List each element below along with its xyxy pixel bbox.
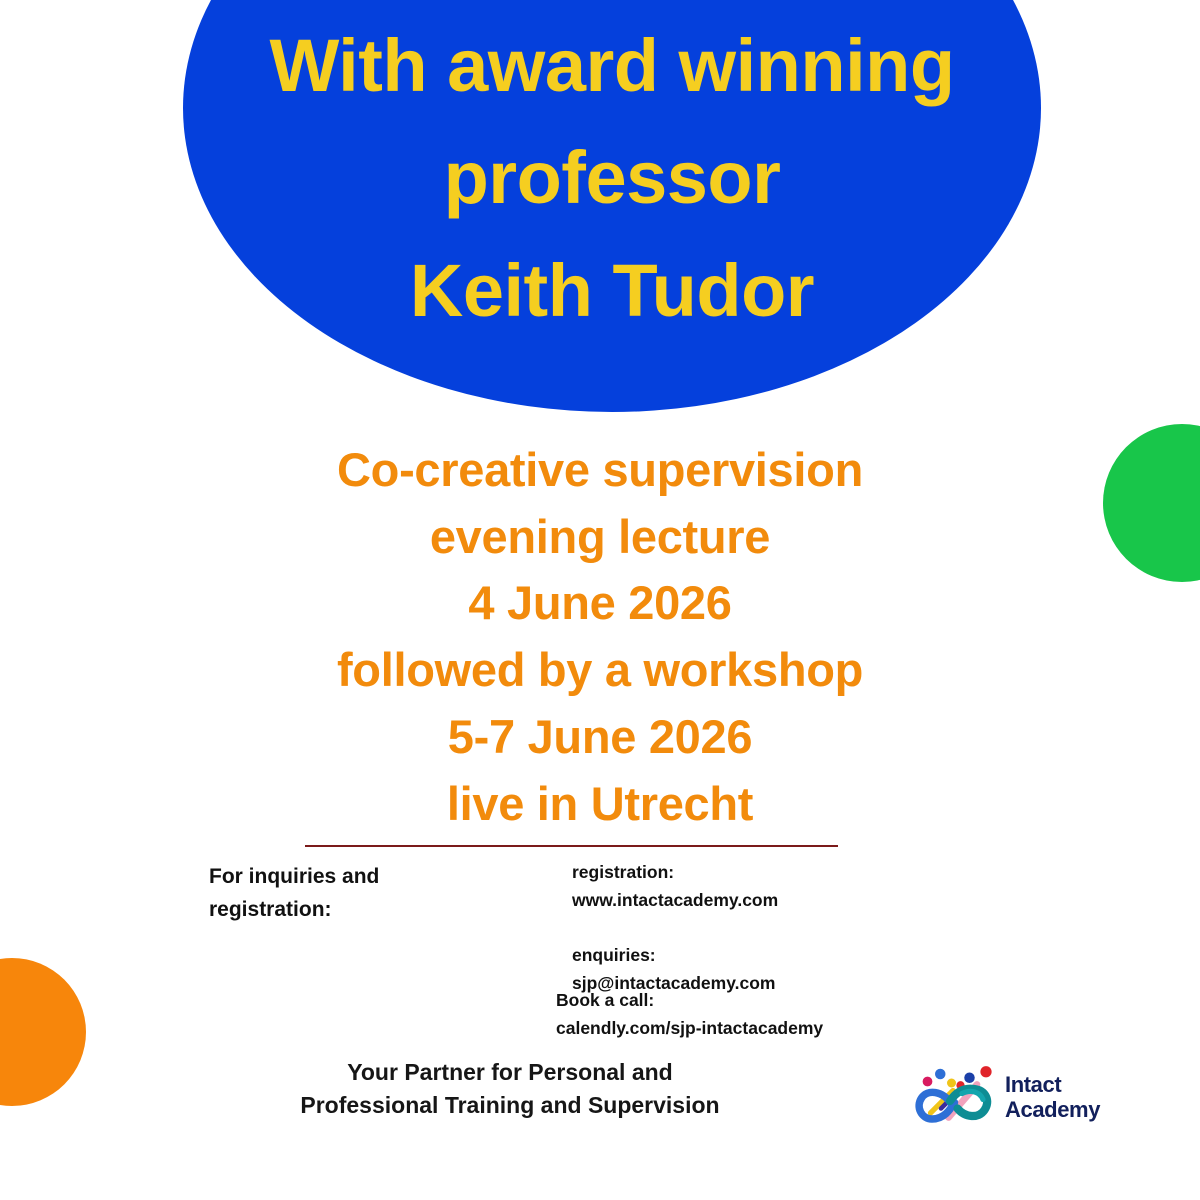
divider-rule xyxy=(305,845,838,847)
headline: With award winning professor Keith Tudor xyxy=(183,10,1041,347)
event-details: Co-creative supervision evening lecture … xyxy=(0,437,1200,837)
contact-heading-line-1: For inquiries and xyxy=(209,861,509,894)
event-line-5: 5-7 June 2026 xyxy=(0,704,1200,771)
orange-circle-shape xyxy=(0,958,86,1106)
logo-name-line-2: Academy xyxy=(1005,1098,1100,1123)
event-line-3: 4 June 2026 xyxy=(0,570,1200,637)
poster-canvas: With award winning professor Keith Tudor… xyxy=(0,0,1200,1200)
event-line-4: followed by a workshop xyxy=(0,637,1200,704)
enquiries-label: enquiries: xyxy=(572,941,778,969)
headline-line-2: professor xyxy=(183,122,1041,234)
tagline-line-2: Professional Training and Supervision xyxy=(190,1089,830,1122)
event-line-1: Co-creative supervision xyxy=(0,437,1200,504)
contact-details: registration: www.intactacademy.com enqu… xyxy=(572,858,778,997)
event-line-2: evening lecture xyxy=(0,504,1200,571)
registration-website-link[interactable]: www.intactacademy.com xyxy=(572,886,778,914)
infinity-loop-icon xyxy=(905,1062,1001,1134)
event-line-6: live in Utrecht xyxy=(0,771,1200,838)
contact-group-registration: registration: www.intactacademy.com xyxy=(572,858,778,915)
headline-line-3: Keith Tudor xyxy=(183,235,1041,347)
book-a-call-link[interactable]: calendly.com/sjp-intactacademy xyxy=(556,1014,823,1042)
footer-tagline: Your Partner for Personal and Profession… xyxy=(190,1056,830,1121)
intact-academy-logo: Intact Academy xyxy=(905,1062,1100,1134)
contact-group-book-a-call: Book a call: calendly.com/sjp-intactacad… xyxy=(556,986,823,1043)
logo-name-line-1: Intact xyxy=(1005,1073,1100,1098)
contact-heading-line-2: registration: xyxy=(209,894,509,927)
book-a-call-label: Book a call: xyxy=(556,986,823,1014)
tagline-line-1: Your Partner for Personal and xyxy=(190,1056,830,1089)
contact-heading: For inquiries and registration: xyxy=(209,861,509,926)
headline-line-1: With award winning xyxy=(183,10,1041,122)
registration-label: registration: xyxy=(572,858,778,886)
logo-wordmark: Intact Academy xyxy=(1005,1073,1100,1122)
